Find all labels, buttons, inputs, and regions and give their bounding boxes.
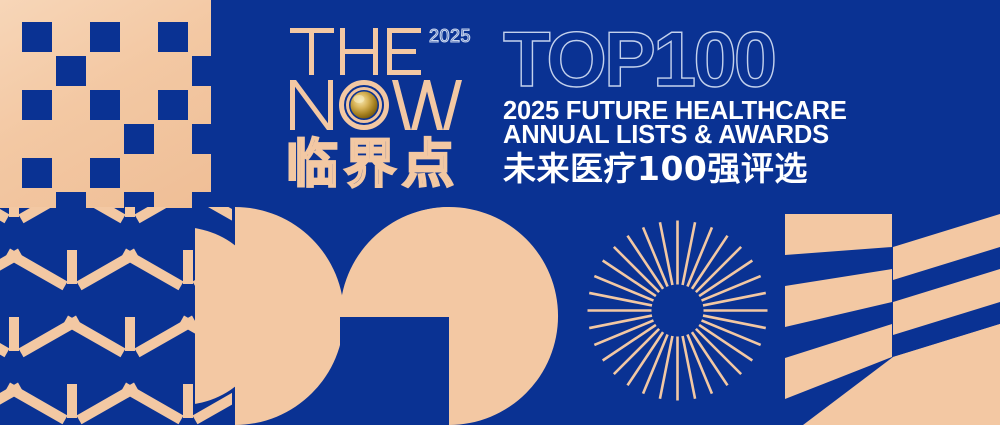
logo-w	[392, 80, 462, 130]
checker-cell	[158, 90, 188, 120]
subtitle-en-line2: ANNUAL LISTS & AWARDS	[503, 124, 848, 147]
diagonal-stripes	[785, 207, 1000, 425]
sunburst-ray	[614, 329, 659, 374]
svg-text:TOP100: TOP100	[503, 24, 775, 96]
sunburst-rays	[585, 218, 770, 403]
logo-now	[290, 80, 333, 130]
checker-cell	[22, 90, 52, 120]
checker-cell	[192, 56, 222, 86]
checker-cell	[158, 22, 188, 52]
sunburst-ray	[696, 329, 741, 374]
checker-cell	[22, 22, 52, 52]
checker-cell	[56, 56, 86, 86]
semicircle-shapes	[195, 207, 585, 425]
checker-cell	[192, 124, 222, 154]
subtitle-en-line1: 2025 FUTURE HEALTHCARE	[503, 100, 848, 123]
gold-orb-highlight	[354, 95, 365, 103]
checker-cell	[22, 158, 52, 188]
checker-cell	[90, 22, 120, 52]
title-block: TOP100 2025 FUTURE HEALTHCARE ANNUAL LIS…	[503, 24, 848, 189]
top100-headline: TOP100	[503, 24, 848, 96]
logo-lockup: 2025 临界点	[288, 22, 483, 192]
sunburst-ray	[614, 247, 659, 292]
banner-root: 2025 临界点	[0, 0, 1000, 425]
logo-chinese: 临界点	[286, 135, 460, 195]
gold-orb	[351, 92, 378, 119]
checker-cell	[124, 124, 154, 154]
checker-cell	[90, 90, 120, 120]
checker-cell	[90, 158, 120, 188]
subtitle-cn: 未来医疗100强评选	[503, 150, 848, 188]
logo-the	[290, 28, 421, 75]
sunburst-ray	[696, 247, 741, 292]
logo-year: 2025	[429, 26, 471, 46]
checkerboard-pattern	[0, 0, 211, 208]
